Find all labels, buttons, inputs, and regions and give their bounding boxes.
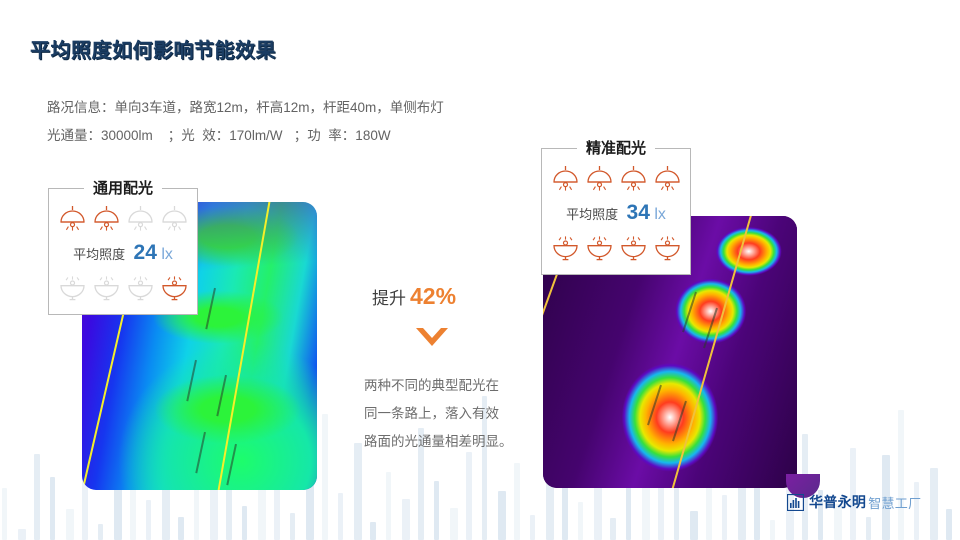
background-bar	[946, 509, 952, 540]
background-bar	[530, 515, 535, 540]
page-title: 平均照度如何影响节能效果	[30, 34, 276, 63]
background-bar	[866, 517, 871, 540]
avg-illuminance-unit: lx	[161, 246, 173, 263]
lamp-icon	[125, 275, 156, 302]
background-bar	[466, 452, 472, 540]
background-bar	[498, 491, 506, 540]
lamp-icon	[584, 165, 615, 192]
lamp-icon	[618, 165, 649, 192]
background-bar	[898, 410, 904, 540]
chevron-down-icon	[414, 326, 450, 355]
caption-line: 路面的光通量相差明显。	[364, 428, 524, 456]
lamp-row-top-precise	[554, 165, 678, 192]
lamp-icon	[618, 235, 649, 262]
avg-illuminance-label: 平均照度	[73, 247, 125, 262]
uplift-label: 提升	[372, 289, 406, 308]
background-bar	[562, 479, 568, 540]
avg-illuminance-value: 24	[134, 241, 157, 264]
lamp-icon	[125, 205, 156, 232]
background-bar	[450, 508, 458, 540]
background-bar	[146, 500, 151, 540]
lamp-icon	[57, 275, 88, 302]
lamp-icon	[584, 235, 615, 262]
avg-illuminance-unit: lx	[654, 206, 666, 223]
background-bar	[242, 506, 247, 540]
lamp-row-bottom-general	[61, 275, 185, 302]
background-bar	[322, 414, 328, 540]
light-distribution-card-general: 通用配光 平均照度 24 lx	[48, 188, 198, 315]
background-bar	[66, 509, 74, 540]
lamp-row-bottom-precise	[554, 235, 678, 262]
background-bar	[658, 484, 664, 540]
brand-name: 华普永明	[809, 492, 866, 512]
caption-line: 同一条路上，落入有效	[364, 400, 524, 428]
background-bar	[370, 522, 376, 540]
brand-logo: 华普永明 智慧工厂	[787, 492, 921, 512]
uplift-percent: 42%	[410, 283, 456, 309]
lamp-icon	[91, 205, 122, 232]
background-bar	[290, 513, 295, 540]
spec-block: 路况信息：单向3车道，路宽12m，杆高12m，杆距40m，单侧布灯 光通量：30…	[47, 94, 444, 150]
uplift-statement: 提升42%	[372, 283, 456, 310]
background-bar	[34, 454, 40, 540]
background-bar	[434, 481, 439, 540]
lamp-row-top-general	[61, 205, 185, 232]
lamp-icon	[91, 275, 122, 302]
background-bar	[514, 463, 520, 540]
avg-illuminance-label: 平均照度	[566, 207, 618, 222]
lamp-icon	[550, 165, 581, 192]
lamp-icon	[652, 165, 683, 192]
background-bar	[114, 482, 122, 540]
background-bar	[578, 502, 583, 540]
background-bar	[18, 529, 26, 540]
background-bar	[722, 495, 727, 540]
background-bar	[354, 443, 362, 540]
background-bar	[98, 524, 103, 540]
lamp-icon	[57, 205, 88, 232]
average-illuminance-precise: 平均照度 34 lx	[554, 201, 678, 225]
average-illuminance-general: 平均照度 24 lx	[61, 241, 185, 265]
huapu-logo-icon	[787, 494, 804, 511]
spec-line-road: 路况信息：单向3车道，路宽12m，杆高12m，杆距40m，单侧布灯	[47, 94, 444, 122]
sub-brand-name: 智慧工厂	[868, 493, 921, 512]
caption-line: 两种不同的典型配光在	[364, 372, 524, 400]
background-bar	[690, 511, 698, 540]
card-title-general: 通用配光	[84, 177, 162, 198]
background-bar	[338, 493, 343, 540]
background-bar	[50, 477, 55, 540]
background-bar	[210, 486, 218, 540]
background-bar	[770, 520, 775, 540]
background-bar	[930, 468, 938, 540]
lamp-icon	[550, 235, 581, 262]
background-bar	[386, 472, 391, 540]
card-title-precise: 精准配光	[577, 137, 655, 158]
light-distribution-card-precise: 精准配光 平均照度 34 lx	[541, 148, 691, 275]
comparison-caption: 两种不同的典型配光在 同一条路上，落入有效 路面的光通量相差明显。	[364, 372, 524, 456]
background-bar	[2, 488, 7, 540]
background-bar	[610, 518, 616, 540]
lamp-icon	[159, 205, 190, 232]
avg-illuminance-value: 34	[627, 201, 650, 224]
background-bar	[402, 499, 410, 540]
lamp-icon	[159, 275, 190, 302]
spec-line-luminaire: 光通量：30000lm ；光 效：170lm/W ；功 率：180W	[47, 122, 444, 150]
lamp-icon	[652, 235, 683, 262]
background-bar	[178, 517, 184, 540]
